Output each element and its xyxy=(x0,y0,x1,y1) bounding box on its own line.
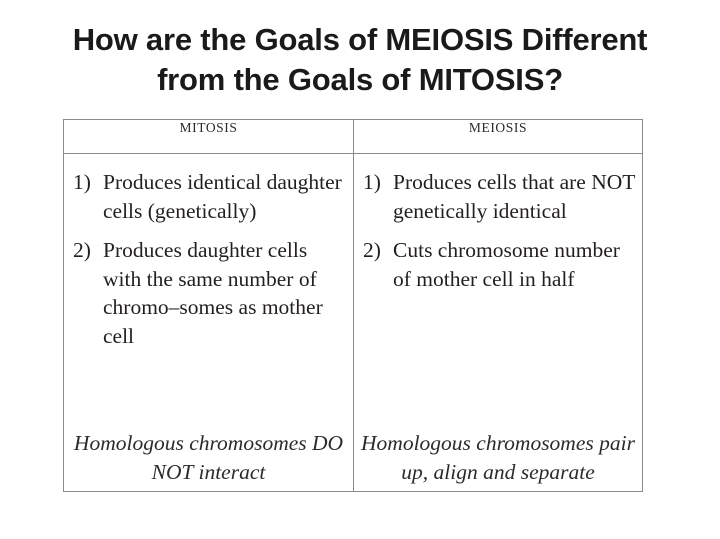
list-marker: 1) xyxy=(363,168,391,197)
table-header-row-group: MITOSIS MEIOSIS xyxy=(64,120,643,154)
cell-mitosis-content: 1) Produces identical daughter cells (ge… xyxy=(64,154,353,491)
cell-mitosis: 1) Produces identical daughter cells (ge… xyxy=(64,154,354,492)
list-item-text: Produces cells that are NOT genetically … xyxy=(393,168,636,225)
cell-meiosis-content: 1) Produces cells that are NOT genetical… xyxy=(354,154,642,491)
mitosis-meiosis-comparison-table: MITOSIS MEIOSIS 1) Produces identical da… xyxy=(63,119,643,492)
list-marker: 2) xyxy=(73,236,101,265)
column-header-meiosis: MEIOSIS xyxy=(354,120,643,154)
list-item: 1) Produces cells that are NOT genetical… xyxy=(363,168,636,225)
meiosis-summary-note: Homologous chromosomes pair up, align an… xyxy=(358,429,638,487)
mitosis-fact-list: 1) Produces identical daughter cells (ge… xyxy=(64,154,353,350)
table-header-row: MITOSIS MEIOSIS xyxy=(64,120,643,154)
meiosis-fact-list: 1) Produces cells that are NOT genetical… xyxy=(354,154,642,293)
column-header-mitosis: MITOSIS xyxy=(64,120,354,154)
page-title-line-1: How are the Goals of MEIOSIS Different xyxy=(0,20,720,60)
table-row: 1) Produces identical daughter cells (ge… xyxy=(64,154,643,492)
page-title: How are the Goals of MEIOSIS Different f… xyxy=(0,20,720,100)
list-marker: 2) xyxy=(363,236,391,265)
list-item: 2) Cuts chromosome number of mother cell… xyxy=(363,236,636,293)
list-item-text: Cuts chromosome number of mother cell in… xyxy=(393,236,636,293)
mitosis-summary-note: Homologous chromosomes DO NOT interact xyxy=(68,429,349,487)
list-marker: 1) xyxy=(73,168,101,197)
list-item-text: Produces daughter cells with the same nu… xyxy=(103,236,347,350)
cell-meiosis: 1) Produces cells that are NOT genetical… xyxy=(354,154,643,492)
table-body: 1) Produces identical daughter cells (ge… xyxy=(64,154,643,492)
page-title-line-2: from the Goals of MITOSIS? xyxy=(0,60,720,100)
list-item-text: Produces identical daughter cells (genet… xyxy=(103,168,347,225)
list-item: 2) Produces daughter cells with the same… xyxy=(73,236,347,350)
list-item: 1) Produces identical daughter cells (ge… xyxy=(73,168,347,225)
